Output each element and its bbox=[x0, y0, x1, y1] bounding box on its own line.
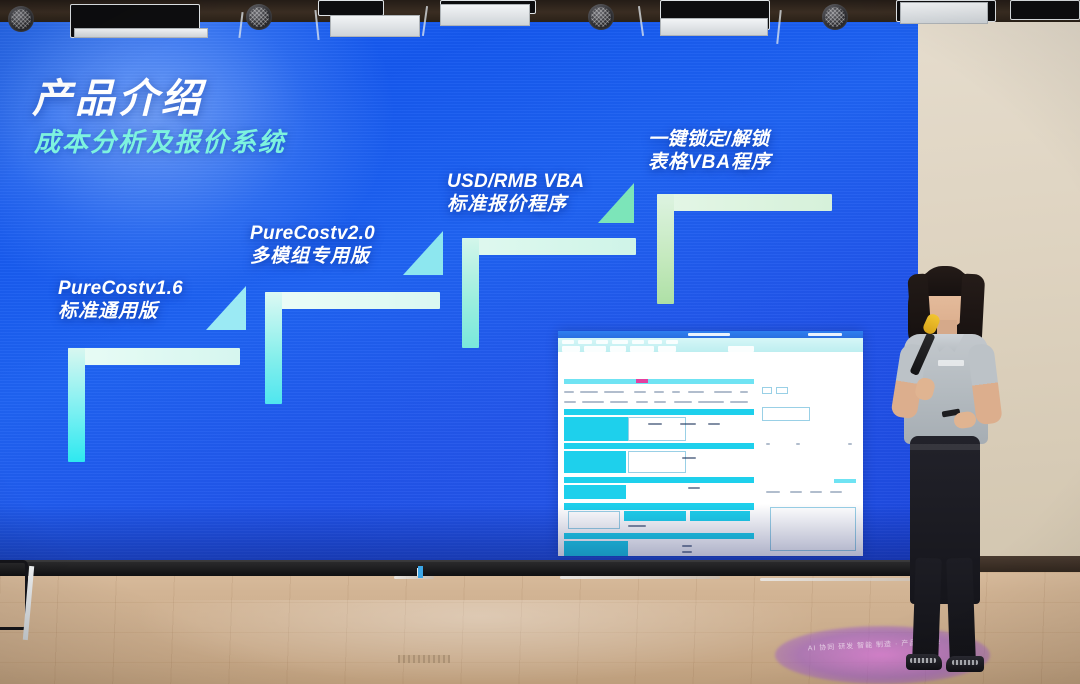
spotlight-mesh bbox=[825, 7, 845, 27]
step-3-label-line1: USD/RMB VBA bbox=[447, 170, 584, 193]
step-1-triangle-icon bbox=[206, 286, 246, 330]
shoe-stud-detail bbox=[910, 658, 936, 663]
floor-vent bbox=[398, 655, 450, 663]
sheet-side-text bbox=[848, 443, 852, 445]
sheet-text-row bbox=[582, 401, 604, 403]
presenter-belt bbox=[910, 444, 980, 450]
step-2-label-line1: PureCostv2.0 bbox=[250, 222, 375, 245]
floor-cable bbox=[560, 576, 720, 579]
step-3-label-line2: 标准报价程序 bbox=[447, 193, 584, 216]
ribbon-group bbox=[658, 346, 676, 352]
sheet-text-row bbox=[580, 391, 598, 393]
step-4-label: 一键锁定/解锁 表格VBA程序 bbox=[648, 128, 771, 174]
ceiling-diffuser-panel bbox=[660, 18, 768, 36]
floor-reflection bbox=[130, 600, 830, 684]
step-1-label-line2: 标准通用版 bbox=[58, 300, 183, 323]
step-1-bar bbox=[68, 348, 240, 365]
led-bottom-shadow bbox=[0, 504, 918, 564]
step-3-triangle-icon bbox=[598, 183, 634, 223]
sheet-text-row bbox=[604, 391, 624, 393]
spotlight-mesh bbox=[11, 9, 31, 29]
stage-marker-tape-blue bbox=[418, 566, 423, 578]
sheet-side-text bbox=[766, 491, 780, 493]
ceiling-light-panel bbox=[318, 0, 384, 16]
step-4-label-line1: 一键锁定/解锁 bbox=[648, 128, 771, 151]
sheet-side-text bbox=[766, 443, 770, 445]
ceiling-light-panel bbox=[1010, 0, 1080, 20]
step-1-label-line1: PureCostv1.6 bbox=[58, 277, 183, 300]
ribbon-group bbox=[584, 346, 606, 352]
shoe-stud-detail bbox=[952, 660, 978, 665]
step-3-bar bbox=[462, 238, 636, 255]
ceiling-diffuser-panel bbox=[900, 2, 988, 24]
spotlight-mesh bbox=[591, 7, 611, 27]
led-presentation-screen: 产品介绍 成本分析及报价系统 PureCostv1.6 标准通用版 PureCo… bbox=[0, 18, 918, 564]
ribbon-group bbox=[562, 346, 580, 352]
presenter bbox=[880, 258, 1010, 684]
sheet-header-band bbox=[686, 379, 754, 384]
sheet-table-header bbox=[564, 409, 754, 415]
sheet-table-header bbox=[564, 443, 754, 449]
sheet-value bbox=[680, 423, 696, 425]
ribbon-tab bbox=[596, 340, 608, 344]
sheet-value bbox=[688, 487, 700, 489]
sheet-side-button bbox=[776, 387, 788, 394]
spotlight-fixture bbox=[8, 6, 34, 32]
sheet-value bbox=[682, 457, 696, 459]
step-2-label: PureCostv2.0 多模组专用版 bbox=[250, 222, 375, 268]
sheet-text-row bbox=[672, 391, 680, 393]
step-4-post bbox=[657, 194, 674, 304]
ribbon-tab bbox=[562, 340, 574, 344]
step-4-bar bbox=[657, 194, 832, 211]
step-1-post bbox=[68, 348, 85, 462]
sheet-cell-group bbox=[628, 417, 686, 441]
sheet-text-row bbox=[654, 401, 666, 403]
sheet-table-block bbox=[596, 417, 628, 441]
ribbon-tab bbox=[578, 340, 592, 344]
ribbon-tab bbox=[612, 340, 628, 344]
spotlight-mesh bbox=[249, 7, 269, 27]
sheet-table-block bbox=[564, 451, 626, 473]
ceiling-diffuser-panel bbox=[74, 28, 208, 38]
sheet-side-text bbox=[830, 491, 842, 493]
step-4-label-line2: 表格VBA程序 bbox=[648, 151, 771, 174]
stage-lip bbox=[0, 562, 918, 576]
step-1-label: PureCostv1.6 标准通用版 bbox=[58, 277, 183, 323]
sheet-text-row bbox=[714, 391, 732, 393]
sheet-side-text bbox=[796, 443, 800, 445]
sheet-side-button bbox=[762, 387, 772, 394]
step-2-bar bbox=[265, 292, 440, 309]
ribbon-group bbox=[630, 346, 654, 352]
sheet-text-row bbox=[610, 401, 628, 403]
sheet-text-row bbox=[740, 391, 748, 393]
sheet-text-row bbox=[636, 401, 648, 403]
presenter-shirt-logo bbox=[938, 360, 964, 366]
sheet-table-header bbox=[564, 477, 754, 483]
sheet-table-block bbox=[564, 485, 626, 499]
sheet-text-row bbox=[688, 391, 704, 393]
sheet-text-row bbox=[634, 391, 646, 393]
spotlight-fixture bbox=[822, 4, 848, 30]
step-2-post bbox=[265, 292, 282, 404]
ribbon-tab bbox=[648, 340, 662, 344]
step-3-label: USD/RMB VBA 标准报价程序 bbox=[447, 170, 584, 216]
sheet-text-row bbox=[698, 401, 724, 403]
sheet-side-panel bbox=[762, 407, 810, 421]
floor-cable bbox=[394, 576, 434, 579]
step-2-label-line2: 多模组专用版 bbox=[250, 245, 375, 268]
sheet-side-highlight bbox=[834, 479, 856, 483]
sheet-header-accent bbox=[636, 379, 648, 383]
sheet-text-row bbox=[654, 391, 664, 393]
ribbon-group bbox=[610, 346, 626, 352]
ceiling-diffuser-panel bbox=[440, 4, 530, 26]
spotlight-fixture bbox=[246, 4, 272, 30]
sheet-text-row bbox=[674, 401, 692, 403]
sheet-cell-group bbox=[628, 451, 686, 473]
sheet-text-row bbox=[730, 401, 748, 403]
ribbon-title-text bbox=[688, 333, 730, 336]
sheet-value bbox=[648, 423, 662, 425]
sheet-side-text bbox=[810, 491, 822, 493]
sheet-text-row bbox=[564, 391, 574, 393]
ribbon-right-text bbox=[808, 333, 842, 336]
step-3-post bbox=[462, 238, 479, 348]
screenshot-stage: AI 协同 研发 智能 制造 · 产品发布会 产品介绍 成本分析及报价系统 Pu… bbox=[0, 0, 1080, 684]
ribbon-tab bbox=[666, 340, 678, 344]
sheet-text-row bbox=[564, 401, 576, 403]
presenter-left-leg bbox=[912, 558, 942, 661]
slide-subtitle: 成本分析及报价系统 bbox=[34, 122, 286, 159]
sheet-value bbox=[708, 423, 720, 425]
sheet-side-text bbox=[790, 491, 802, 493]
presenter-right-leg bbox=[946, 558, 976, 661]
slide-title: 产品介绍 bbox=[32, 66, 204, 124]
step-2-triangle-icon bbox=[403, 231, 443, 275]
ribbon-group bbox=[728, 346, 754, 352]
spotlight-fixture bbox=[588, 4, 614, 30]
ribbon-tab bbox=[632, 340, 644, 344]
ceiling-diffuser-panel bbox=[330, 15, 420, 37]
